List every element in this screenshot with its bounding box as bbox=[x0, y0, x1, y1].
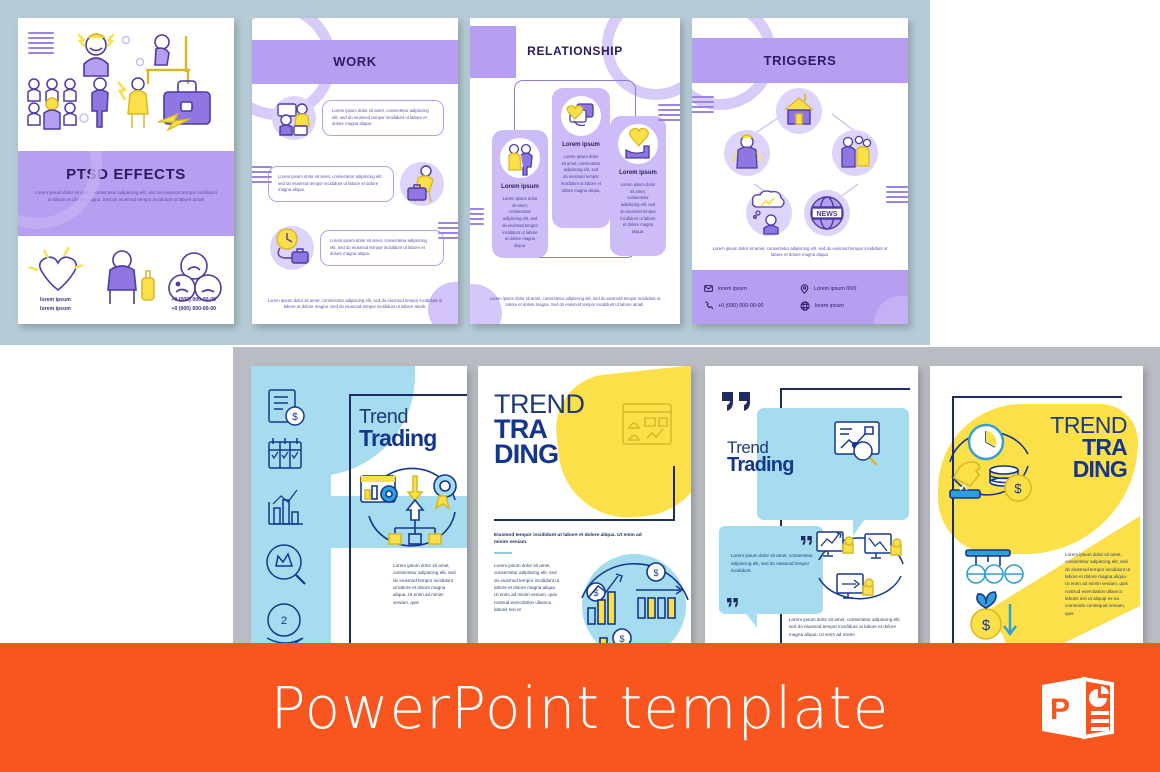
news-globe-icon: NEWS bbox=[804, 190, 850, 236]
ptsd-footer-label-2: lorem ipsum bbox=[40, 305, 71, 314]
work-footer: Lorem ipsum dolor sit amet, consectetur … bbox=[264, 298, 446, 310]
quote-bubble: Lorem ipsum dolor sit amet, consectetur … bbox=[719, 526, 823, 614]
mail-icon bbox=[704, 284, 713, 293]
frame-horizontal-rule bbox=[494, 519, 674, 521]
relationship-card-1-text: Lorem ipsum dolor sit amet, consectetur … bbox=[501, 196, 539, 250]
dashboard-chart-icon bbox=[621, 402, 673, 446]
quote-mark-small-icon bbox=[801, 536, 813, 546]
ptsd-footer-phone-2: +0 (000) 000-00-00 bbox=[171, 305, 216, 314]
slide-relationship[interactable]: RELATIONSHIP Lorem ipsum Lorem ipsum dol… bbox=[470, 18, 680, 324]
chat-people-icon bbox=[272, 96, 316, 140]
work-card-3-text: Lorem ipsum dolor sit amet, consectetur … bbox=[320, 230, 444, 266]
relationship-card-3-caption: Lorem ipsum bbox=[610, 170, 666, 176]
quote-mark-icon bbox=[721, 392, 753, 412]
divider-dash bbox=[494, 552, 512, 554]
clock-briefcase-icon bbox=[270, 226, 314, 270]
frame-horizontal-rule bbox=[952, 396, 1122, 398]
globe-icon bbox=[800, 301, 810, 311]
dashboard-search-icon bbox=[833, 420, 885, 466]
tt4-title-line1: TREND bbox=[1050, 414, 1127, 436]
tt4-body: Lorem ipsum dolor sit amet, consectetur … bbox=[1065, 551, 1131, 617]
tt4-illustration-top: $ bbox=[942, 416, 1052, 526]
relationship-card-2[interactable]: Lorem ipsum Lorem ipsum dolor sit amet, … bbox=[552, 88, 610, 228]
tt3-title: Trend Trading bbox=[727, 438, 794, 477]
svg-text:$: $ bbox=[1014, 481, 1022, 496]
quote-mark-small-icon-2 bbox=[727, 598, 739, 608]
tt4-illustration-bottom: $ bbox=[958, 544, 1046, 654]
work-card-2[interactable]: Lorem ipsum dolor sit amet, consectetur … bbox=[268, 162, 444, 206]
decor-lines-right bbox=[438, 222, 458, 242]
work-card-1-text: Lorem ipsum dolor sit amet, consectetur … bbox=[322, 100, 444, 136]
relationship-card-3[interactable]: Lorem ipsum Lorem ipsum dolor sit amet, … bbox=[610, 116, 666, 256]
tt3-quote-text: Lorem ipsum dolor sit amet, consectetur … bbox=[731, 552, 813, 575]
triggers-contact-footer: lorem ipsum Lorem ipsum 00/0 +0 (000) 00… bbox=[692, 270, 908, 324]
ptsd-bottom-illustration: lorem ipsum lorem ipsum +0 (000) 000-00-… bbox=[18, 236, 234, 324]
ptsd-footer-phone-1: +0 (000) 000-00-00 bbox=[171, 296, 216, 305]
contact-email-text: lorem ipsum bbox=[718, 286, 747, 292]
svg-text:2: 2 bbox=[281, 615, 287, 627]
contact-address-text: Lorem ipsum 00/0 bbox=[814, 286, 856, 292]
worker-briefcase-icon bbox=[400, 162, 444, 206]
tt4-title: TREND TRA DING bbox=[1050, 414, 1127, 480]
banner-title: PowerPoint template bbox=[0, 674, 1160, 742]
tt3-title-line2: Trading bbox=[727, 454, 794, 477]
work-title: WORK bbox=[252, 40, 458, 84]
tt4-title-line2: TRA bbox=[1050, 436, 1127, 458]
quote-bubble-tail bbox=[745, 612, 757, 628]
ptsd-footer-label-1: lorem ipsum bbox=[40, 296, 71, 305]
contact-website[interactable]: lorem ipsum bbox=[800, 297, 896, 314]
tt2-title-line2: TRA bbox=[494, 417, 585, 442]
phone-icon bbox=[704, 301, 713, 310]
slide-trend-trading-4[interactable]: TREND TRA DING $ bbox=[930, 366, 1143, 666]
frame-horizontal-rule bbox=[349, 394, 467, 396]
relationship-card-2-caption: Lorem ipsum bbox=[552, 142, 610, 148]
tt3-illustration bbox=[813, 526, 909, 612]
decor-lines-left bbox=[252, 166, 272, 186]
triggers-header: TRIGGERS bbox=[692, 38, 908, 83]
group-people-icon bbox=[832, 130, 878, 176]
tt2-lead: Eiusmod tempor incididunt ut labore et d… bbox=[494, 532, 654, 547]
contact-phone-text: +0 (000) 000-00-00 bbox=[718, 303, 764, 309]
contact-website-text: lorem ipsum bbox=[815, 303, 844, 309]
work-header: WORK bbox=[252, 40, 458, 84]
slide-trend-trading-3[interactable]: Trend Trading Lorem ipsum dolor sit amet… bbox=[705, 366, 918, 666]
tt1-title: Trend Trading bbox=[359, 406, 436, 452]
decor-lines-right bbox=[658, 104, 680, 124]
svg-text:$: $ bbox=[982, 617, 991, 634]
contact-email[interactable]: lorem ipsum bbox=[704, 280, 800, 297]
decor-lines-left bbox=[692, 96, 714, 116]
tt2-title-line3: DING bbox=[494, 442, 585, 467]
relationship-card-1-caption: Lorem ipsum bbox=[492, 184, 548, 190]
ptsd-icons-group bbox=[18, 18, 234, 151]
frame-vertical-rule bbox=[673, 466, 675, 521]
svg-text:NEWS: NEWS bbox=[817, 211, 838, 218]
thought-bubble-icon bbox=[746, 190, 792, 236]
triggers-title: TRIGGERS bbox=[692, 38, 908, 83]
tt2-body: Lorem ipsum dolor sit amet, consectetur … bbox=[494, 562, 560, 613]
tt3-body: Lorem ipsum dolor sit amet, consectetur … bbox=[789, 616, 907, 638]
ptsd-footer: lorem ipsum lorem ipsum +0 (000) 000-00-… bbox=[40, 296, 216, 314]
tt1-main-illustration bbox=[355, 464, 465, 556]
svg-text:$: $ bbox=[292, 412, 298, 423]
slide-work[interactable]: WORK Lorem ipsum dolor sit amet, consect… bbox=[252, 18, 458, 324]
relationship-card-1[interactable]: Lorem ipsum Lorem ipsum dolor sit amet, … bbox=[492, 130, 548, 258]
decor-lines-left bbox=[470, 208, 484, 228]
powerpoint-banner: PowerPoint template P bbox=[0, 643, 1160, 772]
slide-trend-trading-1[interactable]: $ 2 Trend Trading bbox=[251, 366, 467, 666]
triggers-body: Lorem ipsum dolor sit amet, consectetur … bbox=[708, 246, 892, 258]
contact-phone[interactable]: +0 (000) 000-00-00 bbox=[704, 297, 800, 314]
relationship-card-3-text: Lorem ipsum dolor sit amet, consectetur … bbox=[619, 182, 657, 236]
pin-icon bbox=[800, 284, 809, 294]
svg-text:$: $ bbox=[653, 568, 658, 578]
screenshot-root: PTSD EFFECTS Lorem ipsum dolor sit amet,… bbox=[0, 0, 1160, 772]
contact-address[interactable]: Lorem ipsum 00/0 bbox=[800, 280, 896, 297]
slide-ptsd-effects[interactable]: PTSD EFFECTS Lorem ipsum dolor sit amet,… bbox=[18, 18, 234, 324]
tt1-body: Lorem ipsum dolor sit amet, consectetur … bbox=[393, 562, 457, 606]
ptsd-top-illustration bbox=[18, 18, 234, 151]
tt1-title-line2: Trading bbox=[359, 425, 436, 452]
work-card-2-text: Lorem ipsum dolor sit amet, consectetur … bbox=[268, 166, 394, 202]
tt4-title-line3: DING bbox=[1050, 458, 1127, 480]
ptsd-title-block: PTSD EFFECTS Lorem ipsum dolor sit amet,… bbox=[18, 151, 234, 236]
slide-triggers[interactable]: TRIGGERS bbox=[692, 18, 908, 324]
decor-lines-right bbox=[886, 186, 908, 206]
work-card-1[interactable]: Lorem ipsum dolor sit amet, consectetur … bbox=[272, 96, 444, 140]
powerpoint-icon: P bbox=[1040, 675, 1116, 741]
scared-person-icon bbox=[724, 130, 770, 176]
frame-horizontal-rule bbox=[780, 388, 910, 390]
house-fire-icon bbox=[776, 88, 822, 134]
heart-in-hand-icon bbox=[618, 124, 658, 164]
couple-icon bbox=[500, 138, 540, 178]
relationship-title: RELATIONSHIP bbox=[470, 44, 680, 58]
slide-trend-trading-2[interactable]: TREND TRA DING Eiusmod tempor incididunt… bbox=[478, 366, 691, 666]
frame-vertical-rule bbox=[349, 394, 351, 666]
svg-text:P: P bbox=[1050, 693, 1070, 726]
relationship-footer: Lorem ipsum dolor sit amet, consectetur … bbox=[486, 296, 664, 308]
relationship-card-2-text: Lorem ipsum dolor sit amet, consectetur … bbox=[561, 154, 601, 194]
tt2-title: TREND TRA DING bbox=[494, 392, 585, 466]
tt1-sidebar-icons: $ 2 bbox=[259, 384, 329, 666]
hand-heart-chat-icon bbox=[561, 96, 601, 136]
work-card-3[interactable]: Lorem ipsum dolor sit amet, consectetur … bbox=[270, 226, 444, 270]
